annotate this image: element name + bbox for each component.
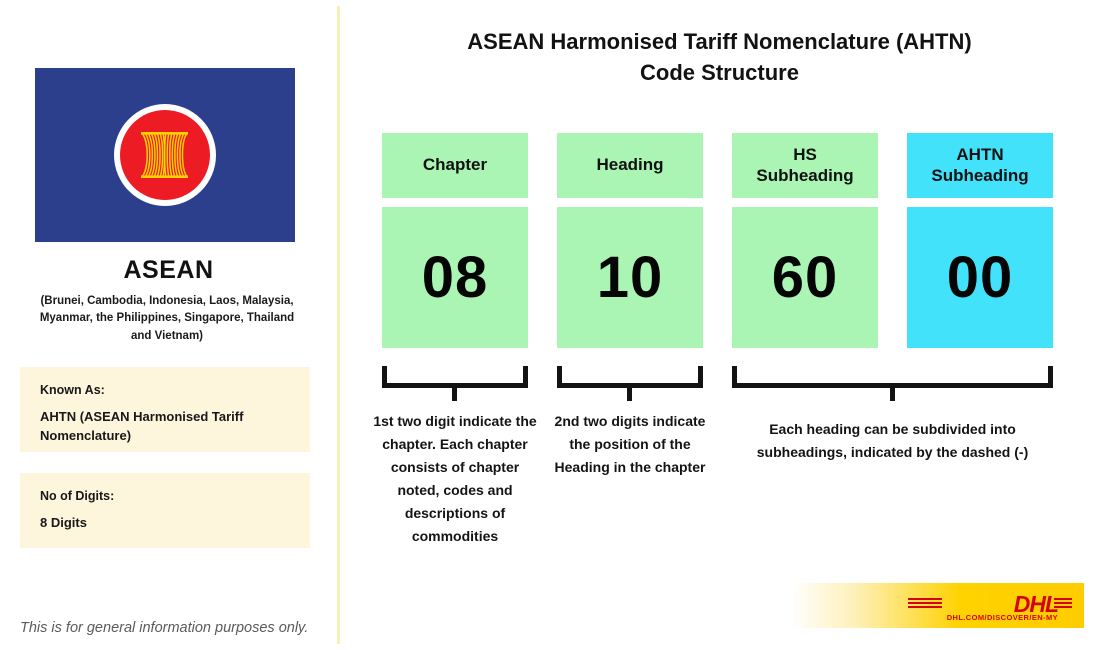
info-label: No of Digits: [40,489,290,503]
dhl-url-text: DHL.COM/DISCOVER/EN-MY [947,613,1058,622]
dhl-footer-bar: DHL DHL.COM/DISCOVER/EN-MY [791,583,1084,628]
column-header-line-2: Subheading [756,166,853,186]
column-header-heading: Heading [557,133,703,198]
dhl-streak-left-1 [908,598,942,600]
info-box-known-as: Known As: AHTN (ASEAN Harmonised Tariff … [20,367,310,452]
column-header-line-2: Subheading [931,166,1028,186]
column-header-line-1: HS [793,145,817,165]
bracket-stem-heading [627,385,632,401]
column-header-hs-subheading: HS Subheading [732,133,878,198]
caption-chapter: 1st two digit indicate the chapter. Each… [373,410,537,549]
page-title: ASEAN Harmonised Tariff Nomenclature (AH… [377,26,1062,88]
column-ahtn-subheading: AHTN Subheading 00 [907,133,1053,348]
bracket-stem-chapter [452,385,457,401]
dhl-streak-left-3 [908,606,942,608]
column-hs-subheading: HS Subheading 60 [732,133,878,348]
info-label: Known As: [40,383,290,397]
column-digits-chapter: 08 [382,207,528,348]
info-value: 8 Digits [40,514,290,533]
info-value: AHTN (ASEAN Harmonised Tariff Nomenclatu… [40,408,290,446]
column-header-ahtn-subheading: AHTN Subheading [907,133,1053,198]
flag-red-disc [120,110,210,200]
column-digits-ahtn-subheading: 00 [907,207,1053,348]
column-header-line-1: AHTN [956,145,1003,165]
bracket-stem-subheadings [890,385,895,401]
flag-white-ring [114,104,216,206]
column-digits-heading: 10 [557,207,703,348]
disclaimer-text: This is for general information purposes… [20,620,320,636]
caption-subheadings: Each heading can be subdivided into subh… [729,418,1056,464]
caption-heading: 2nd two digits indicate the position of … [553,410,707,479]
page-title-line-2: Code Structure [377,57,1062,88]
asean-rice-stalk-emblem [140,132,190,178]
organisation-name: ASEAN [0,256,337,285]
column-header-chapter: Chapter [382,133,528,198]
member-countries: (Brunei, Cambodia, Indonesia, Laos, Mala… [32,293,302,345]
column-chapter: Chapter 08 [382,133,528,348]
column-heading: Heading 10 [557,133,703,348]
asean-flag [35,68,295,242]
right-panel: ASEAN Harmonised Tariff Nomenclature (AH… [337,0,1100,650]
info-box-no-of-digits: No of Digits: 8 Digits [20,473,310,548]
infographic-page: ASEAN (Brunei, Cambodia, Indonesia, Laos… [0,0,1100,650]
dhl-logo: DHL DHL.COM/DISCOVER/EN-MY [892,588,1072,624]
column-digits-hs-subheading: 60 [732,207,878,348]
dhl-streak-left-2 [908,602,942,604]
page-title-line-1: ASEAN Harmonised Tariff Nomenclature (AH… [377,26,1062,57]
left-panel: ASEAN (Brunei, Cambodia, Indonesia, Laos… [0,0,337,650]
